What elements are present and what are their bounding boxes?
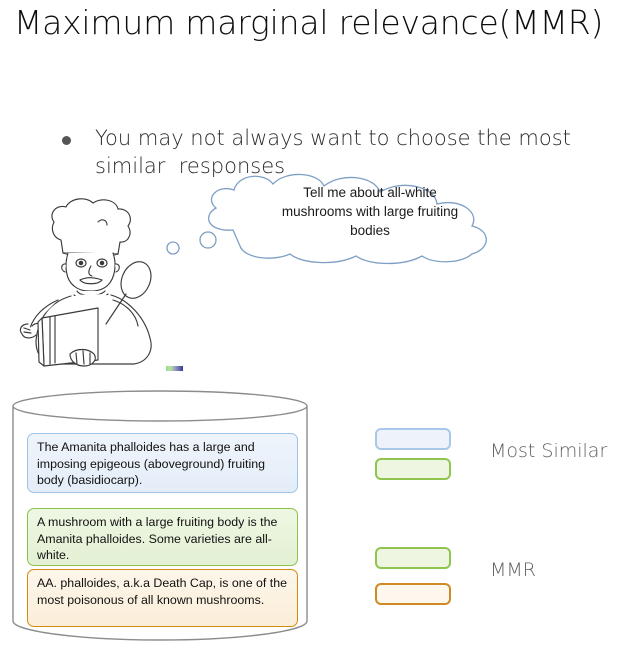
color-artifact: [166, 366, 183, 371]
legend-swatch-mmr-orange: [375, 583, 451, 605]
thought-bubble: Tell me about all-white mushrooms with l…: [160, 168, 560, 268]
chef-reading-book-icon: [14, 196, 174, 371]
page-title: Maximum marginal relevance(MMR): [0, 2, 617, 44]
thought-bubble-text: Tell me about all-white mushrooms with l…: [270, 183, 470, 240]
document-card-green[interactable]: A mushroom with a large fruiting body is…: [27, 508, 298, 566]
legend-label-most-similar: Most Similar: [490, 440, 607, 462]
chef-illustration: [14, 196, 174, 371]
legend-swatch-mmr-green: [375, 547, 451, 569]
legend-swatch-most-similar-blue: [375, 428, 451, 450]
document-card-orange[interactable]: AA. phalloides, a.k.a Death Cap, is one …: [27, 569, 298, 627]
legend-label-mmr: MMR: [490, 559, 536, 581]
document-card-blue[interactable]: The Amanita phalloides has a large and i…: [27, 433, 298, 493]
bullet-point-icon: [62, 136, 71, 145]
legend-swatch-most-similar-green: [375, 458, 451, 480]
slide-canvas: Maximum marginal relevance(MMR) You may …: [0, 0, 617, 648]
